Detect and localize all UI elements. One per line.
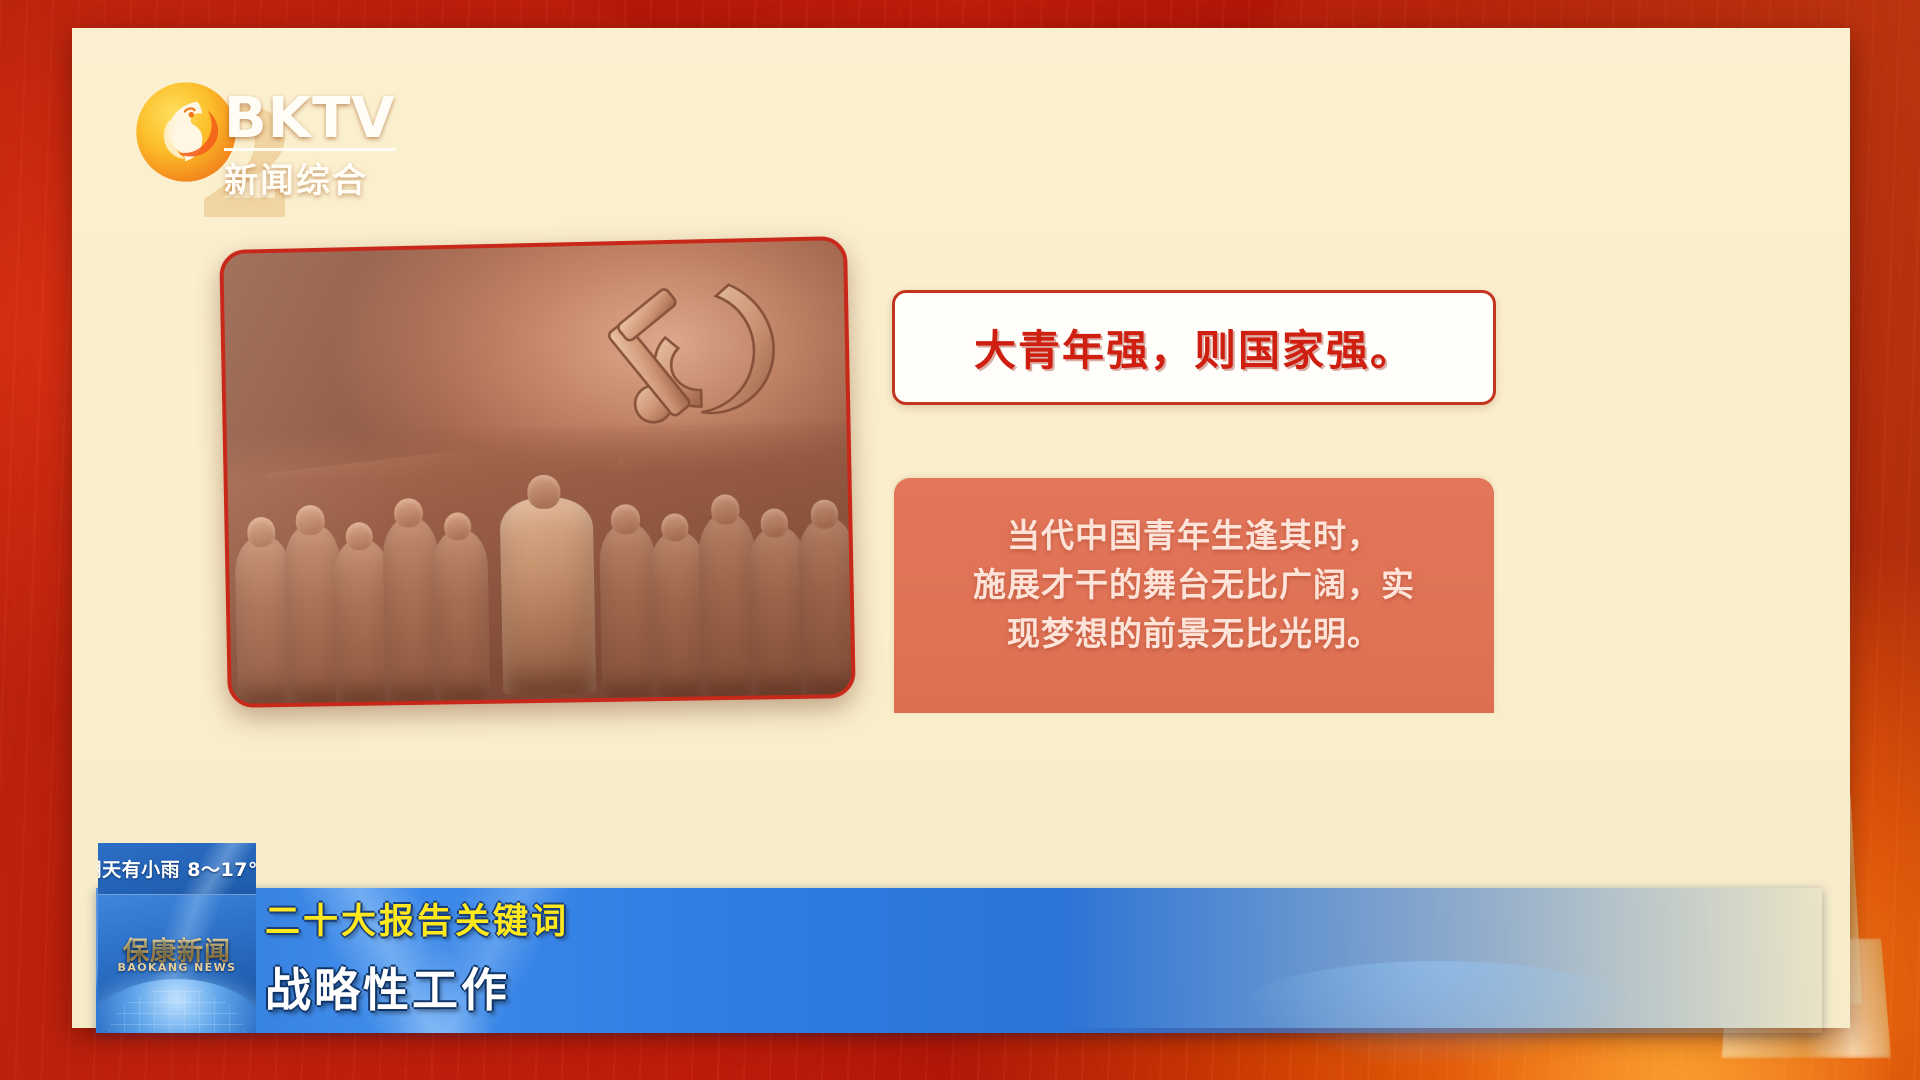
passage-line-2: 施展才干的舞台无比广阔，实 <box>936 561 1452 610</box>
relief-crowd <box>227 422 852 704</box>
logo-divider <box>224 148 396 151</box>
quote-text: 大青年强，则国家强。 <box>974 317 1414 378</box>
station-callsign: BKTV <box>224 92 396 145</box>
headline-kicker: 二十大报告关键词 <box>265 893 1165 944</box>
headline-title: 战略性工作 <box>265 954 1165 1020</box>
relief-sculpture-image <box>219 236 856 708</box>
lower-third-banner: 二十大报告关键词 战略性工作 阴天有小雨 8～17℃ 保康新闻 BAOKANG … <box>0 845 1920 1080</box>
station-logo: 2 BKTV 新闻综合 <box>132 68 392 203</box>
passage-line-3: 现梦想的前景无比光明。 <box>936 610 1452 659</box>
globe-icon <box>98 979 256 1033</box>
channel-name-en: BAOKANG NEWS <box>98 961 256 974</box>
station-subtitle: 新闻综合 <box>224 153 396 202</box>
passage-line-1: 当代中国青年生逢其时， <box>936 512 1452 561</box>
quote-card: 大青年强，则国家强。 <box>892 290 1496 405</box>
relief-central-figure <box>499 497 596 694</box>
weather-channel-stack: 阴天有小雨 8～17℃ 保康新闻 BAOKANG NEWS <box>98 843 256 1033</box>
weather-strip: 阴天有小雨 8～17℃ <box>98 843 256 895</box>
passage-card: 当代中国青年生逢其时， 施展才干的舞台无比广阔，实 现梦想的前景无比光明。 <box>894 478 1494 713</box>
station-logo-text: BKTV 新闻综合 <box>224 92 396 202</box>
lower-third-headline: 二十大报告关键词 战略性工作 <box>265 893 1165 1020</box>
weather-text: 阴天有小雨 8～17℃ <box>98 855 256 882</box>
channel-card: 保康新闻 BAOKANG NEWS <box>98 895 256 1033</box>
